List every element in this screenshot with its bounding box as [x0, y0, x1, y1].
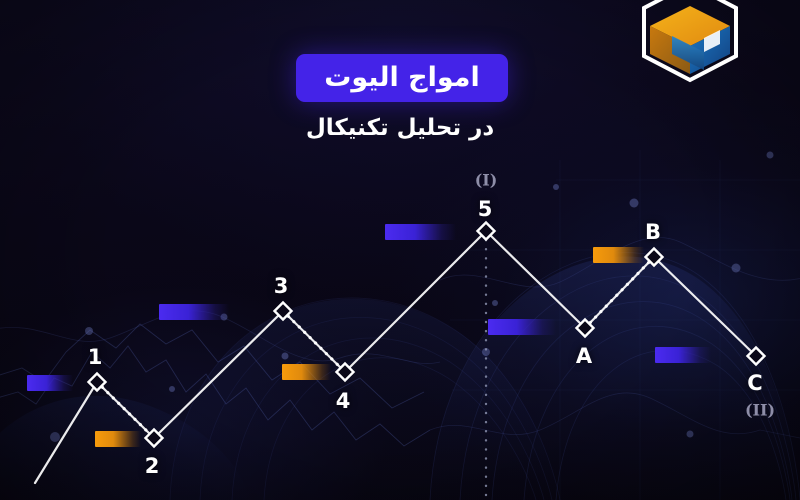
bar-wave-a — [488, 319, 556, 335]
wave-label-1: 1 — [88, 345, 103, 369]
wave-label-2: 2 — [145, 454, 160, 478]
wave-label-5: 5 — [478, 197, 493, 221]
wave-segment — [486, 231, 585, 328]
wave-segment — [154, 311, 283, 438]
bar-wave-c — [655, 347, 711, 363]
bar-wave-2 — [95, 431, 141, 447]
wave-label-c: C — [747, 371, 762, 395]
poster-canvas: امواج الیوت در تحلیل تکنیکال 12345ABC(I)… — [0, 0, 800, 500]
wave-label-3: 3 — [274, 274, 289, 298]
elliott-wave-chart — [0, 0, 800, 500]
wave-segment — [283, 311, 345, 372]
wave-segment — [654, 257, 756, 356]
wave-label-b: B — [645, 220, 661, 244]
wave-segment — [345, 231, 486, 372]
bar-wave-5 — [385, 224, 456, 240]
degree-label: (II) — [745, 401, 775, 420]
degree-label: (I) — [475, 171, 498, 190]
bar-wave-4 — [282, 364, 331, 380]
wave-label-4: 4 — [336, 389, 351, 413]
bar-wave-3 — [159, 304, 229, 320]
bar-wave-1 — [27, 375, 73, 391]
bar-wave-b — [593, 247, 644, 263]
wave-label-a: A — [576, 344, 592, 368]
wave-segment — [35, 382, 97, 483]
